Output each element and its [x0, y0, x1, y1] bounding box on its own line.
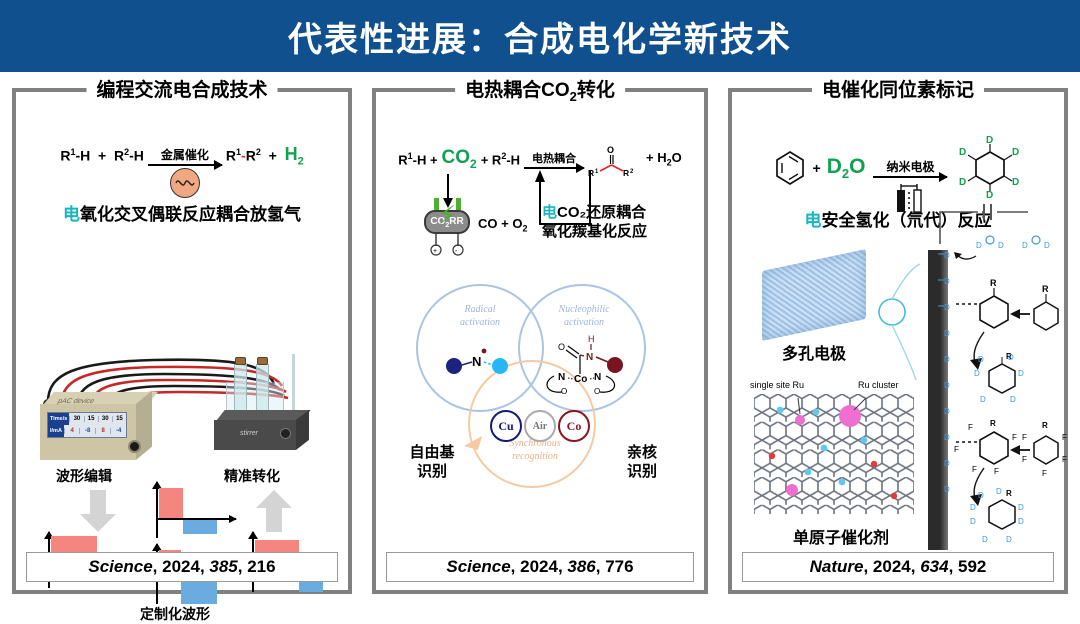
- panel-programmable-ac: 编程交流电合成技术 R1-H + R2-H 金属催化 R1-R2 + H2 电氧…: [12, 88, 352, 594]
- zoom-connector-icon: [858, 264, 922, 382]
- svg-text:D: D: [1012, 177, 1019, 188]
- svg-text:O: O: [594, 387, 600, 396]
- equation-left: R1-H + R2-H: [60, 147, 144, 164]
- svg-text:D: D: [944, 381, 950, 390]
- svg-text:D: D: [978, 355, 984, 364]
- device-knob: [128, 440, 141, 453]
- chart-custom-waveform-1: [156, 482, 236, 538]
- reaction-arrow: 金属催化: [148, 146, 222, 166]
- svg-text:-: -: [455, 248, 458, 255]
- arrow-label-2: 电热耦合: [532, 150, 576, 166]
- reaction-arrow-3: 纳米电极: [873, 158, 947, 178]
- svg-text:D: D: [959, 177, 966, 188]
- venn-label-nucleophilic: Nucleophilicactivation: [536, 304, 632, 329]
- device-display: Time/s 30 15 30 15 I/mA 4 -8 8 -4: [47, 412, 127, 438]
- svg-text:D: D: [998, 241, 1004, 250]
- up-arrow-icon: [254, 490, 294, 532]
- stirrer-knob: [280, 428, 291, 439]
- svg-text:D: D: [1008, 353, 1014, 362]
- svg-text:D: D: [1018, 517, 1024, 526]
- reactant-co2: CO2: [442, 147, 477, 171]
- panel-co2-conversion: 电热耦合CO2转化 R1-H + CO2 + R2-H 电热耦合 O R1 R2…: [372, 88, 708, 594]
- label-radical-recognition: 自由基识别: [396, 444, 468, 482]
- svg-text:N: N: [594, 372, 601, 383]
- equation-left: R1-H +: [398, 151, 437, 167]
- svg-text:D: D: [996, 487, 1002, 496]
- svg-text:D: D: [982, 535, 988, 544]
- svg-text:R: R: [623, 168, 629, 178]
- label-porous-electrode: 多孔电极: [754, 340, 874, 364]
- svg-text:F: F: [1022, 455, 1027, 464]
- deuterated-cyclohexane-icon: DD DD DD: [957, 138, 1023, 198]
- svg-text:R: R: [1042, 421, 1048, 430]
- cobalt-complex-icon: O H N N N Co O O: [536, 330, 636, 396]
- title-banner: 代表性进展：合成电化学新技术: [0, 0, 1080, 72]
- lightning-bolt-icon: ⚡: [438, 202, 456, 228]
- svg-text:F: F: [1012, 433, 1017, 442]
- equation-mid: + R2-H: [481, 151, 520, 167]
- water-product: + H2O: [646, 150, 682, 168]
- svg-text:D: D: [944, 355, 950, 364]
- svg-text:D: D: [1010, 395, 1016, 404]
- reagent-d2o: D2O: [827, 155, 866, 181]
- pac-device: pAC device Time/s 30 15 30 15 I/mA 4 -8 …: [40, 392, 152, 462]
- panel-isotope-labeling: 电催化同位素标记 + D2O 纳米电极: [728, 88, 1068, 594]
- cell-output-label: CO + O2: [478, 216, 527, 234]
- svg-text:D: D: [978, 491, 984, 500]
- svg-text:F: F: [994, 467, 999, 476]
- graphene-lattice-image: [754, 394, 934, 522]
- svg-text:F: F: [1062, 433, 1067, 442]
- ketone-product-icon: O R1 R2: [588, 144, 646, 174]
- label-nucleophilic-recognition: 亲核识别: [606, 444, 678, 482]
- magnetic-stirrer: stirrer: [214, 410, 310, 462]
- badge-air: Air: [524, 410, 556, 442]
- display-row-current-tag: I/mA: [48, 425, 64, 437]
- svg-text:N: N: [472, 354, 481, 369]
- citation-2: Science, 2024, 386, 776: [386, 552, 694, 582]
- svg-text:D: D: [944, 433, 950, 442]
- svg-text:D: D: [1018, 503, 1024, 512]
- svg-text:D: D: [1022, 241, 1028, 250]
- device-name-label: pAC device: [57, 398, 95, 405]
- nitroxide-radical-icon: N: [444, 344, 516, 378]
- display-row-time: Time/s 30 15 30 15: [48, 413, 126, 425]
- svg-text:D: D: [980, 395, 986, 404]
- svg-text:O: O: [558, 342, 565, 352]
- label-single-atom-catalyst: 单原子催化剂: [756, 524, 926, 548]
- reaction-arrow-2: 电热耦合: [524, 150, 584, 169]
- svg-text:F: F: [1042, 469, 1047, 478]
- display-row-time-tag: Time/s: [48, 413, 69, 425]
- svg-text:D: D: [1006, 535, 1012, 544]
- label-ru-cluster: Ru cluster: [858, 380, 899, 390]
- panel-1-equation: R1-H + R2-H 金属催化 R1-R2 + H2: [16, 144, 348, 168]
- svg-text:O: O: [607, 145, 614, 155]
- svg-text:D: D: [944, 329, 950, 338]
- svg-text:1: 1: [595, 169, 599, 175]
- label-custom-waveform: 定制化波形: [140, 604, 210, 624]
- svg-text:D: D: [944, 277, 950, 286]
- test-tube-cap-1: [235, 357, 246, 365]
- svg-text:R: R: [990, 419, 996, 428]
- svg-text:D: D: [944, 459, 950, 468]
- venn-label-radical: Radicalactivation: [434, 304, 526, 329]
- svg-text:F: F: [1062, 455, 1067, 464]
- test-tube-cap-2: [257, 357, 268, 365]
- panel-2-subheading: 电CO₂还原耦合 氧化羰基化反应: [542, 204, 647, 242]
- svg-text:F: F: [954, 445, 959, 454]
- svg-text:N: N: [558, 372, 565, 383]
- benzene-ring-icon: [773, 149, 807, 187]
- svg-text:D: D: [944, 485, 950, 494]
- panel-2-title: 电热耦合CO2转化: [455, 75, 625, 104]
- citation-1: Science, 2024, 385, 216: [26, 552, 338, 582]
- svg-text:R: R: [990, 278, 997, 288]
- equation-right: R1-R2 +: [226, 147, 285, 164]
- svg-text:R: R: [1042, 284, 1049, 294]
- panel-3-equation: + D2O 纳米电极 DD: [732, 138, 1064, 198]
- svg-text:D: D: [970, 517, 976, 526]
- svg-text:F: F: [972, 465, 977, 474]
- porous-electrode-image: [762, 249, 866, 341]
- arrow-label-3: 纳米电极: [886, 158, 934, 175]
- label-waveform-editing: 波形编辑: [56, 466, 112, 486]
- svg-text:D: D: [970, 503, 976, 512]
- badge-cu: Cu: [490, 410, 522, 442]
- panel-3-title: 电催化同位素标记: [812, 75, 984, 102]
- venn-label-synchronous: Synchronousrecognition: [488, 438, 582, 463]
- svg-text:+: +: [433, 248, 437, 255]
- down-arrow-icon: [78, 490, 118, 532]
- mechanism-diagram: DD DD DD DD DD DD DD R R R DD DD DD: [918, 200, 1068, 552]
- product-h2: H2: [285, 144, 304, 168]
- svg-text:Co: Co: [574, 374, 587, 385]
- svg-text:D: D: [959, 147, 966, 158]
- ac-waveform-icon: [170, 168, 200, 198]
- svg-text:D: D: [944, 303, 950, 312]
- svg-text:2: 2: [630, 169, 634, 175]
- svg-text:D: D: [986, 135, 993, 146]
- svg-text:F: F: [1022, 433, 1027, 442]
- panel-1-title: 编程交流电合成技术: [86, 75, 277, 102]
- thermometer-icon: [292, 354, 295, 414]
- svg-text:D: D: [944, 251, 950, 260]
- display-row-current: I/mA 4 -8 8 -4: [48, 425, 126, 437]
- svg-text:N: N: [586, 352, 593, 363]
- badge-co: Co: [558, 410, 590, 442]
- citation-3: Nature, 2024, 634, 592: [742, 552, 1054, 582]
- svg-text:D: D: [1012, 147, 1019, 158]
- svg-text:D: D: [974, 369, 980, 378]
- svg-text:F: F: [968, 423, 973, 432]
- label-single-site-ru: single site Ru: [750, 380, 804, 390]
- svg-text:H: H: [588, 334, 595, 344]
- svg-text:D: D: [1018, 369, 1024, 378]
- svg-text:D: D: [976, 241, 982, 250]
- stirrer-label: stirrer: [240, 430, 258, 437]
- svg-text:R: R: [1006, 489, 1012, 498]
- plus-sign: +: [813, 160, 821, 176]
- svg-text:D: D: [944, 407, 950, 416]
- panel-1-subheading: 电氧化交叉偶联反应耦合放氢气: [16, 204, 348, 225]
- arrow-label: 金属催化: [161, 146, 209, 163]
- svg-text:D: D: [1044, 241, 1050, 250]
- page-title: 代表性进展：合成电化学新技术: [288, 12, 792, 61]
